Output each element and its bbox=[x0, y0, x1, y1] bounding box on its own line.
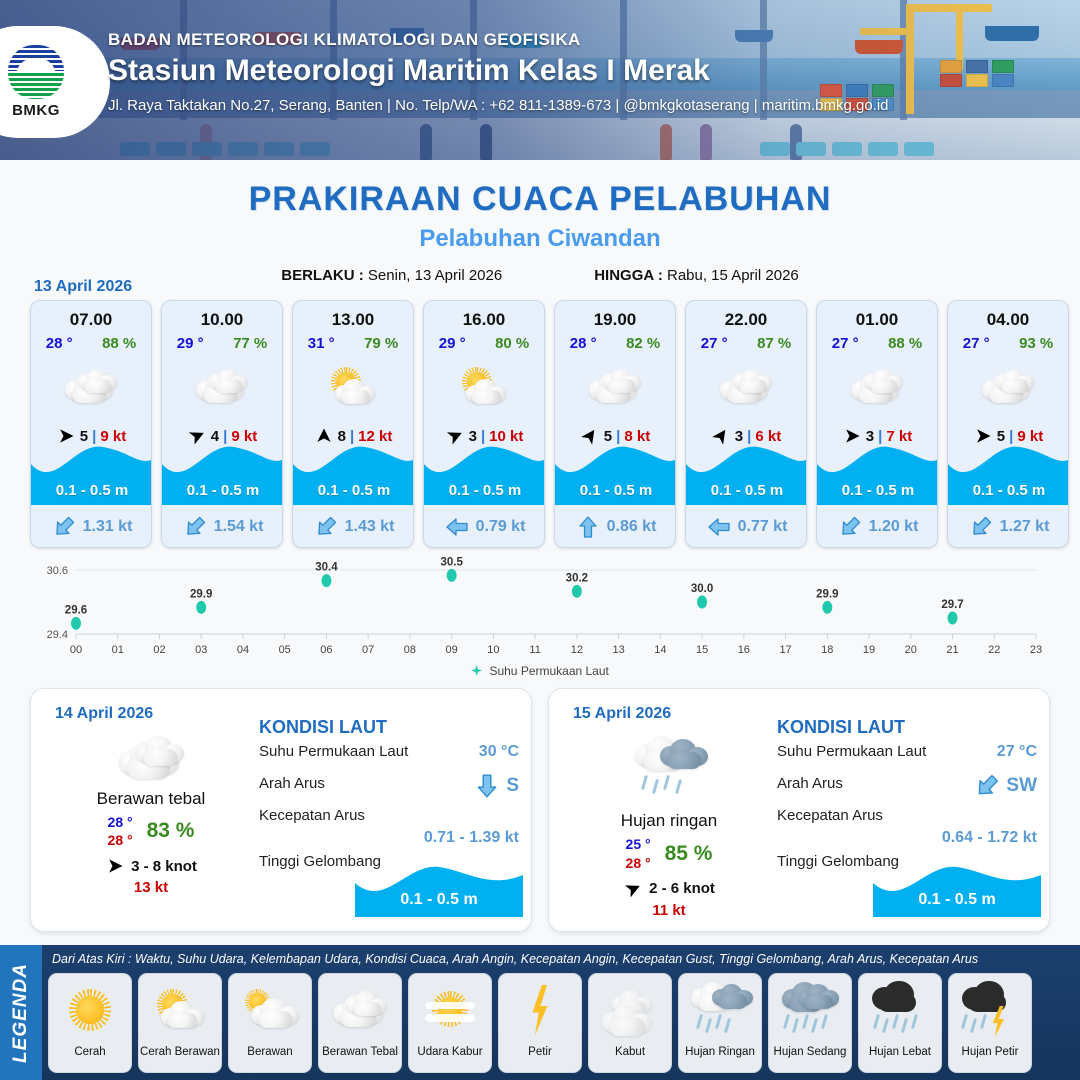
panel-current-speed-label: Kecepatan Arus bbox=[777, 807, 883, 824]
panel-current-dir-value: SW bbox=[1006, 775, 1037, 797]
current-direction-icon bbox=[309, 510, 343, 544]
card-wave-height: 0.1 - 0.5 m bbox=[555, 482, 676, 499]
panel-wind: 3 - 8 knot bbox=[51, 856, 251, 876]
legend-sidebar-title: LEGENDA bbox=[10, 963, 32, 1063]
berawan-tebal-icon bbox=[817, 358, 937, 416]
legend-item: Petir bbox=[498, 973, 582, 1073]
panel-wave-value: 0.1 - 0.5 m bbox=[355, 891, 523, 909]
bmkg-emblem-icon bbox=[8, 45, 64, 99]
svg-text:09: 09 bbox=[446, 644, 458, 656]
card-time: 22.00 bbox=[686, 310, 806, 330]
panel-wave-value: 0.1 - 0.5 m bbox=[873, 891, 1041, 909]
svg-text:12: 12 bbox=[571, 644, 583, 656]
svg-text:30.0: 30.0 bbox=[691, 583, 713, 595]
page-header: BMKG BADAN METEOROLOGI KLIMATOLOGI DAN G… bbox=[0, 0, 1080, 160]
card-time: 04.00 bbox=[948, 310, 1068, 330]
station-name: Stasiun Meteorologi Maritim Kelas I Mera… bbox=[108, 54, 889, 88]
card-current: 0.77 kt bbox=[686, 507, 807, 547]
card-wave-height: 0.1 - 0.5 m bbox=[293, 482, 414, 499]
card-current-speed: 0.77 kt bbox=[738, 518, 788, 536]
legend-item-label: Hujan Ringan bbox=[685, 1046, 755, 1058]
panel-condition: Hujan ringan bbox=[569, 811, 769, 831]
forecast-card: 04.0027 °93 %5|9 kt0.1 - 0.5 m1.27 kt bbox=[947, 300, 1069, 548]
legend-item-label: Berawan bbox=[247, 1046, 292, 1058]
berawan-tebal-icon bbox=[51, 735, 251, 783]
sst-chart-svg: 30.629.400010203040506070809101112131415… bbox=[30, 556, 1050, 664]
chart-legend: Suhu Permukaan Laut bbox=[30, 664, 1050, 678]
svg-text:30.4: 30.4 bbox=[315, 562, 338, 574]
card-current-speed: 1.20 kt bbox=[869, 518, 919, 536]
panel-current-speed-value: 0.64 - 1.72 kt bbox=[942, 829, 1037, 847]
daily-forecast-panel: 15 April 2026Hujan ringan25 °28 °85 %2 -… bbox=[548, 688, 1050, 932]
card-wave: 0.1 - 0.5 m bbox=[555, 439, 676, 505]
hourly-forecast-row: 07.0028 °88 %5|9 kt0.1 - 0.5 m1.31 kt10.… bbox=[30, 300, 1069, 548]
card-current: 1.54 kt bbox=[162, 507, 283, 547]
svg-text:01: 01 bbox=[112, 644, 124, 656]
card-humidity: 82 % bbox=[626, 335, 660, 352]
card-current-speed: 1.31 kt bbox=[83, 518, 133, 536]
panel-sst-label: Suhu Permukaan Laut bbox=[259, 743, 408, 760]
legend-item-row: CerahCerah BerawanBerawanBerawan TebalUd… bbox=[48, 973, 1032, 1073]
card-current-speed: 1.43 kt bbox=[345, 518, 395, 536]
panel-current-dir-label: Arah Arus bbox=[259, 775, 325, 792]
forecast-card: 16.0029 °80 %3|10 kt0.1 - 0.5 m0.79 kt bbox=[423, 300, 545, 548]
panel-sst-value: 27 °C bbox=[997, 743, 1037, 761]
card-current: 1.31 kt bbox=[31, 507, 152, 547]
card-time: 13.00 bbox=[293, 310, 413, 330]
validity-row: BERLAKU : Senin, 13 April 2026 HINGGA : … bbox=[0, 267, 1080, 284]
svg-text:29.9: 29.9 bbox=[816, 588, 838, 600]
legend-item: Udara Kabur bbox=[408, 973, 492, 1073]
berawan-tebal-icon bbox=[948, 358, 1068, 416]
card-current: 1.20 kt bbox=[817, 507, 938, 547]
panel-current-dir-value: S bbox=[506, 775, 519, 797]
panel-humidity: 83 % bbox=[147, 819, 195, 843]
panel-temp-max: 28 ° bbox=[108, 831, 133, 850]
contact-info: Jl. Raya Taktakan No.27, Serang, Banten … bbox=[108, 97, 889, 114]
udara-kabur-icon bbox=[423, 974, 478, 1046]
daily-forecast-panel: 14 April 2026Berawan tebal28 °28 °83 %3 … bbox=[30, 688, 532, 932]
svg-text:06: 06 bbox=[320, 644, 332, 656]
panel-gust: 11 kt bbox=[569, 902, 769, 919]
panel-temp-max: 28 ° bbox=[626, 854, 651, 873]
card-humidity: 88 % bbox=[102, 335, 136, 352]
svg-text:29.4: 29.4 bbox=[47, 629, 68, 641]
card-temperature: 27 ° bbox=[832, 335, 859, 352]
bmkg-logo-text: BMKG bbox=[12, 102, 60, 119]
svg-text:18: 18 bbox=[821, 644, 833, 656]
card-current-speed: 0.86 kt bbox=[607, 518, 657, 536]
legend-item: Hujan Lebat bbox=[858, 973, 942, 1073]
legend-item: Cerah Berawan bbox=[138, 973, 222, 1073]
card-humidity: 93 % bbox=[1019, 335, 1053, 352]
svg-text:05: 05 bbox=[279, 644, 291, 656]
legend-item: Hujan Petir bbox=[948, 973, 1032, 1073]
current-direction-icon bbox=[178, 510, 212, 544]
valid-from: BERLAKU : Senin, 13 April 2026 bbox=[281, 267, 502, 284]
legend-item-label: Hujan Petir bbox=[962, 1046, 1019, 1058]
panel-temp-min: 28 ° bbox=[108, 813, 133, 832]
card-wave-height: 0.1 - 0.5 m bbox=[817, 482, 938, 499]
card-humidity: 77 % bbox=[233, 335, 267, 352]
svg-text:22: 22 bbox=[988, 644, 1000, 656]
svg-text:07: 07 bbox=[362, 644, 374, 656]
card-temperature: 31 ° bbox=[308, 335, 335, 352]
panel-sea-title: KONDISI LAUT bbox=[259, 717, 521, 738]
svg-text:30.5: 30.5 bbox=[440, 556, 463, 568]
card-temperature: 28 ° bbox=[46, 335, 73, 352]
panel-wave: 0.1 - 0.5 m bbox=[873, 861, 1041, 917]
legend-item: Hujan Ringan bbox=[678, 973, 762, 1073]
svg-text:04: 04 bbox=[237, 644, 249, 656]
card-current-speed: 1.27 kt bbox=[1000, 518, 1050, 536]
panel-wave: 0.1 - 0.5 m bbox=[355, 861, 523, 917]
legend-item-label: Udara Kabur bbox=[417, 1046, 482, 1058]
page-title: PRAKIRAAN CUACA PELABUHAN bbox=[0, 180, 1080, 219]
card-temperature: 27 ° bbox=[963, 335, 990, 352]
card-current: 0.79 kt bbox=[424, 507, 545, 547]
svg-text:21: 21 bbox=[946, 644, 958, 656]
svg-text:00: 00 bbox=[70, 644, 82, 656]
cerah-berawan-icon bbox=[424, 358, 544, 416]
card-time: 01.00 bbox=[817, 310, 937, 330]
forecast-card: 19.0028 °82 %5|8 kt0.1 - 0.5 m0.86 kt bbox=[554, 300, 676, 548]
panel-gust: 13 kt bbox=[51, 879, 251, 896]
legend-note: Dari Atas Kiri : Waktu, Suhu Udara, Kele… bbox=[52, 952, 978, 966]
svg-text:11: 11 bbox=[529, 644, 540, 656]
legend-item: Hujan Sedang bbox=[768, 973, 852, 1073]
hujan-ringan-icon bbox=[569, 735, 769, 805]
berawan-tebal-icon bbox=[31, 358, 151, 416]
svg-text:23: 23 bbox=[1030, 644, 1042, 656]
panel-temp-min: 25 ° bbox=[626, 835, 651, 854]
legend-item: Kabut bbox=[588, 973, 672, 1073]
forecast-card: 01.0027 °88 %3|7 kt0.1 - 0.5 m1.20 kt bbox=[816, 300, 938, 548]
sst-chart: 30.629.400010203040506070809101112131415… bbox=[30, 556, 1050, 680]
card-temperature: 28 ° bbox=[570, 335, 597, 352]
legend-item-label: Hujan Sedang bbox=[774, 1046, 847, 1058]
card-humidity: 80 % bbox=[495, 335, 529, 352]
card-current: 0.86 kt bbox=[555, 507, 676, 547]
petir-icon bbox=[519, 974, 561, 1046]
panel-wind: 2 - 6 knot bbox=[569, 879, 769, 899]
svg-text:10: 10 bbox=[487, 644, 499, 656]
current-direction-icon bbox=[969, 768, 1006, 805]
page-subtitle: Pelabuhan Ciwandan bbox=[0, 225, 1080, 253]
card-humidity: 87 % bbox=[757, 335, 791, 352]
card-time: 19.00 bbox=[555, 310, 675, 330]
card-wave-height: 0.1 - 0.5 m bbox=[162, 482, 283, 499]
card-time: 16.00 bbox=[424, 310, 544, 330]
svg-text:14: 14 bbox=[654, 644, 666, 656]
forecast-day-label: 13 April 2026 bbox=[34, 278, 132, 296]
svg-text:19: 19 bbox=[863, 644, 875, 656]
svg-text:13: 13 bbox=[612, 644, 624, 656]
panel-sst-value: 30 °C bbox=[479, 743, 519, 761]
legend-item: Cerah bbox=[48, 973, 132, 1073]
legend-item: Berawan bbox=[228, 973, 312, 1073]
current-direction-icon bbox=[833, 510, 867, 544]
card-current-speed: 0.79 kt bbox=[476, 518, 526, 536]
svg-text:20: 20 bbox=[905, 644, 917, 656]
current-direction-icon bbox=[47, 510, 81, 544]
panel-current-speed-label: Kecepatan Arus bbox=[259, 807, 365, 824]
panel-date: 15 April 2026 bbox=[573, 705, 671, 723]
legend-item-label: Berawan Tebal bbox=[322, 1046, 398, 1058]
card-wave: 0.1 - 0.5 m bbox=[31, 439, 152, 505]
card-time: 07.00 bbox=[31, 310, 151, 330]
svg-text:02: 02 bbox=[153, 644, 165, 656]
card-current: 1.27 kt bbox=[948, 507, 1069, 547]
card-time: 10.00 bbox=[162, 310, 282, 330]
berawan-tebal-icon bbox=[686, 358, 806, 416]
legend-item: Berawan Tebal bbox=[318, 973, 402, 1073]
legend-item-label: Cerah bbox=[74, 1046, 105, 1058]
hujan-lebat-icon bbox=[870, 974, 931, 1046]
berawan-tebal-icon bbox=[331, 974, 390, 1046]
card-wave: 0.1 - 0.5 m bbox=[948, 439, 1069, 505]
cerah-icon bbox=[63, 974, 118, 1046]
card-wave-height: 0.1 - 0.5 m bbox=[948, 482, 1069, 499]
card-wave: 0.1 - 0.5 m bbox=[686, 439, 807, 505]
current-direction-icon bbox=[707, 515, 731, 539]
svg-text:17: 17 bbox=[779, 644, 791, 656]
legend-item-label: Cerah Berawan bbox=[140, 1046, 220, 1058]
daily-forecast-panels: 14 April 2026Berawan tebal28 °28 °83 %3 … bbox=[30, 688, 1050, 932]
organization-name: BADAN METEOROLOGI KLIMATOLOGI DAN GEOFIS… bbox=[108, 30, 889, 50]
card-temperature: 29 ° bbox=[439, 335, 466, 352]
card-wave-height: 0.1 - 0.5 m bbox=[424, 482, 545, 499]
svg-text:29.7: 29.7 bbox=[941, 599, 963, 611]
legend-sidebar: LEGENDA bbox=[0, 945, 42, 1080]
legend-item-label: Petir bbox=[528, 1046, 552, 1058]
panel-current-dir-label: Arah Arus bbox=[777, 775, 843, 792]
card-temperature: 29 ° bbox=[177, 335, 204, 352]
svg-text:29.6: 29.6 bbox=[65, 604, 87, 616]
berawan-tebal-icon bbox=[162, 358, 282, 416]
svg-text:08: 08 bbox=[404, 644, 416, 656]
card-wave: 0.1 - 0.5 m bbox=[162, 439, 283, 505]
hujan-sedang-icon bbox=[780, 974, 841, 1046]
panel-sst-label: Suhu Permukaan Laut bbox=[777, 743, 926, 760]
berawan-icon bbox=[241, 974, 300, 1046]
svg-text:29.9: 29.9 bbox=[190, 588, 212, 600]
card-wave-height: 0.1 - 0.5 m bbox=[31, 482, 152, 499]
valid-from-label: BERLAKU : bbox=[281, 267, 364, 284]
panel-wind-range: 3 - 8 knot bbox=[131, 858, 197, 875]
kabut-icon bbox=[600, 974, 661, 1046]
valid-until: HINGGA : Rabu, 15 April 2026 bbox=[594, 267, 799, 284]
hujan-petir-icon bbox=[960, 974, 1021, 1046]
svg-text:30.6: 30.6 bbox=[47, 565, 68, 577]
chart-legend-label: Suhu Permukaan Laut bbox=[489, 664, 608, 678]
card-wave: 0.1 - 0.5 m bbox=[817, 439, 938, 505]
current-direction-icon bbox=[964, 510, 998, 544]
berawan-tebal-icon bbox=[555, 358, 675, 416]
cerah-berawan-icon bbox=[293, 358, 413, 416]
card-humidity: 79 % bbox=[364, 335, 398, 352]
wind-direction-icon bbox=[105, 856, 125, 876]
panel-humidity: 85 % bbox=[665, 842, 713, 866]
legend-item-label: Hujan Lebat bbox=[869, 1046, 931, 1058]
forecast-card: 22.0027 °87 %3|6 kt0.1 - 0.5 m0.77 kt bbox=[685, 300, 807, 548]
card-wave: 0.1 - 0.5 m bbox=[424, 439, 545, 505]
card-wave: 0.1 - 0.5 m bbox=[293, 439, 414, 505]
card-current-speed: 1.54 kt bbox=[214, 518, 264, 536]
svg-text:15: 15 bbox=[696, 644, 708, 656]
card-temperature: 27 ° bbox=[701, 335, 728, 352]
valid-until-label: HINGGA : bbox=[594, 267, 663, 284]
current-direction-icon bbox=[474, 773, 500, 799]
chart-legend-marker-icon bbox=[471, 665, 482, 676]
panel-condition: Berawan tebal bbox=[51, 789, 251, 809]
panel-wind-range: 2 - 6 knot bbox=[649, 880, 715, 897]
current-direction-icon bbox=[576, 515, 600, 539]
svg-text:30.2: 30.2 bbox=[566, 572, 588, 584]
card-wave-height: 0.1 - 0.5 m bbox=[686, 482, 807, 499]
forecast-card: 13.0031 °79 %8|12 kt0.1 - 0.5 m1.43 kt bbox=[292, 300, 414, 548]
panel-date: 14 April 2026 bbox=[55, 705, 153, 723]
current-direction-icon bbox=[445, 515, 469, 539]
forecast-card: 10.0029 °77 %4|9 kt0.1 - 0.5 m1.54 kt bbox=[161, 300, 283, 548]
legend-section: LEGENDA Dari Atas Kiri : Waktu, Suhu Uda… bbox=[0, 945, 1080, 1080]
wind-direction-icon bbox=[620, 875, 647, 902]
card-current: 1.43 kt bbox=[293, 507, 414, 547]
valid-until-value: Rabu, 15 April 2026 bbox=[667, 267, 799, 284]
hujan-ringan-icon bbox=[690, 974, 751, 1046]
panel-current-speed-value: 0.71 - 1.39 kt bbox=[424, 829, 519, 847]
cerah-berawan-icon bbox=[151, 974, 210, 1046]
svg-text:16: 16 bbox=[738, 644, 750, 656]
panel-sea-title: KONDISI LAUT bbox=[777, 717, 1039, 738]
bmkg-logo: BMKG bbox=[0, 26, 110, 138]
card-humidity: 88 % bbox=[888, 335, 922, 352]
legend-item-label: Kabut bbox=[615, 1046, 645, 1058]
svg-text:03: 03 bbox=[195, 644, 207, 656]
valid-from-value: Senin, 13 April 2026 bbox=[368, 267, 502, 284]
forecast-card: 07.0028 °88 %5|9 kt0.1 - 0.5 m1.31 kt bbox=[30, 300, 152, 548]
